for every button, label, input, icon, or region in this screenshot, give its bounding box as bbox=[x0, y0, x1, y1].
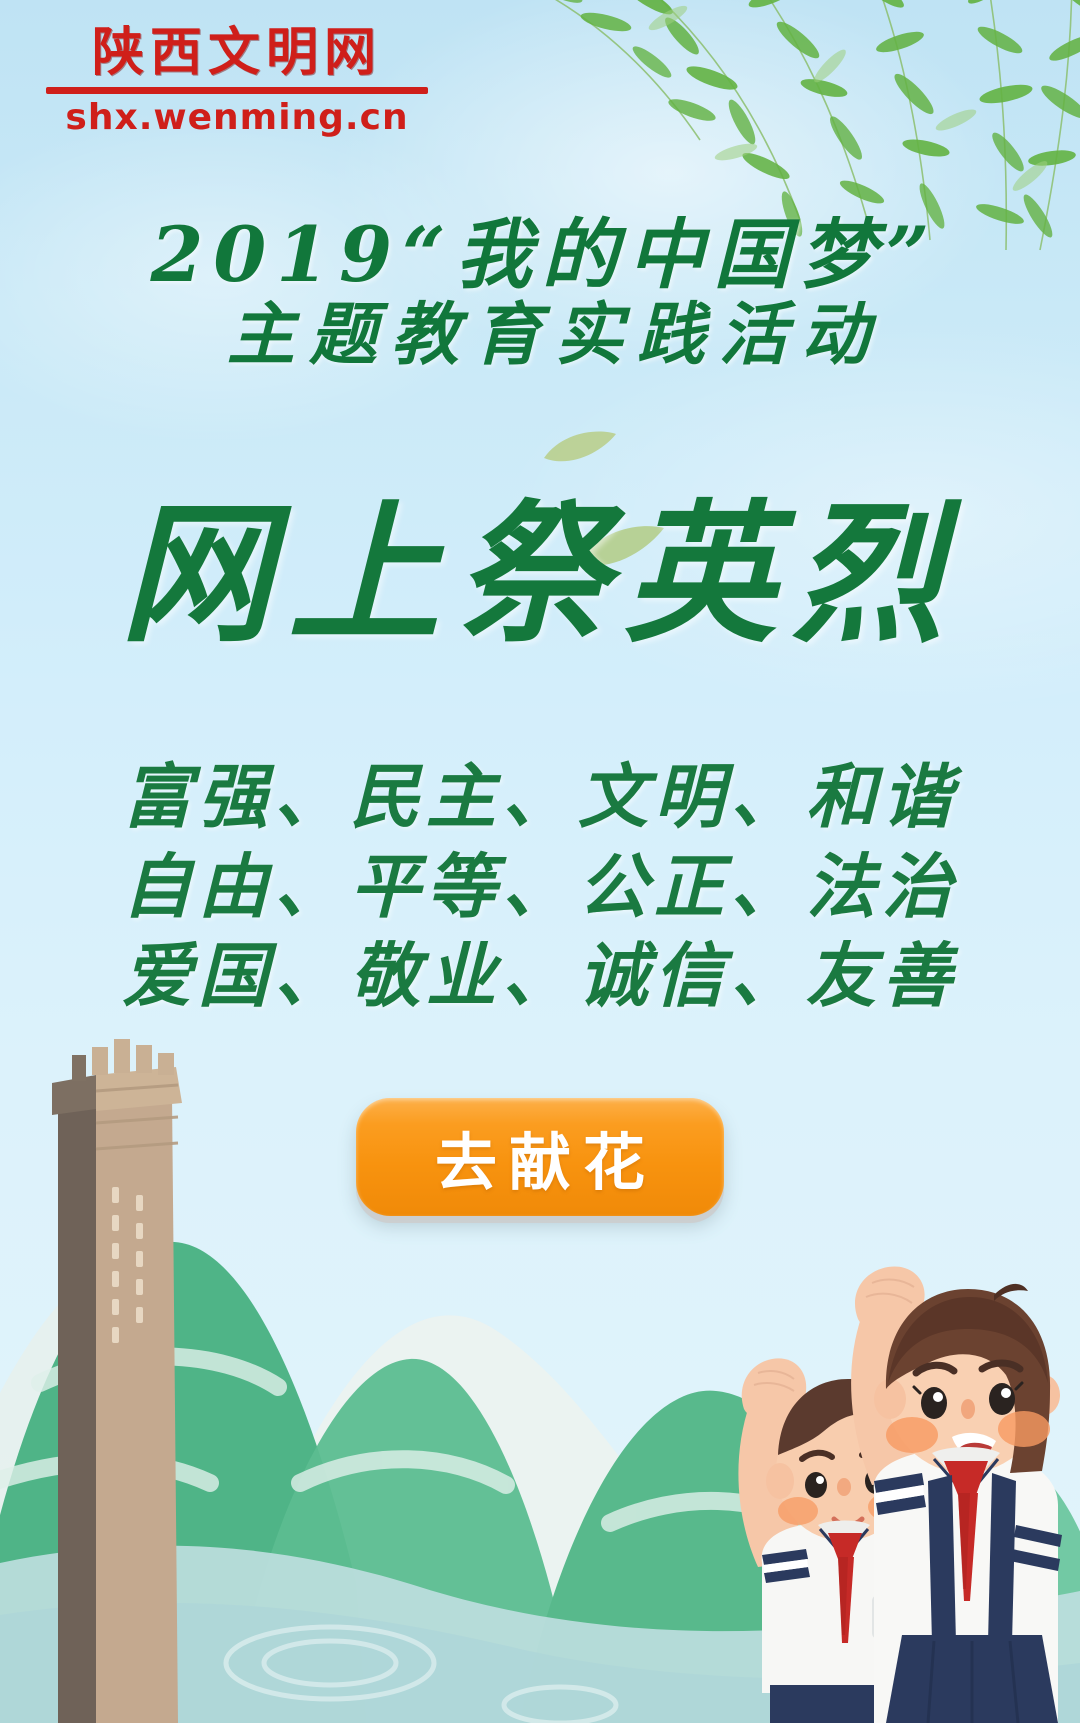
offer-flowers-button-label: 去献花 bbox=[423, 1112, 657, 1202]
saluting-students-illustration bbox=[666, 1223, 1080, 1723]
site-logo-url: shx.wenming.cn bbox=[42, 98, 432, 138]
values-line-1: 富强、民主、文明、和谐 bbox=[0, 752, 1080, 842]
landscape-illustration bbox=[0, 963, 1080, 1723]
subtitle-line-2: 主题教育实践活动 bbox=[0, 296, 1080, 374]
student-girl bbox=[851, 1266, 1062, 1723]
values-line-2: 自由、平等、公正、法治 bbox=[0, 842, 1080, 932]
page-title: 网上祭英烈 bbox=[0, 490, 1080, 657]
floating-leaf-icon bbox=[540, 428, 620, 470]
campaign-subtitle: 2019“我的中国梦” 主题教育实践活动 bbox=[0, 214, 1080, 374]
offer-flowers-button[interactable]: 去献花 bbox=[356, 1098, 724, 1216]
site-logo-name: 陕西文明网 bbox=[42, 26, 432, 81]
student-boy bbox=[738, 1358, 912, 1723]
values-line-3: 爱国、敬业、诚信、友善 bbox=[0, 931, 1080, 1021]
logo-divider bbox=[46, 87, 428, 94]
core-socialist-values: 富强、民主、文明、和谐 自由、平等、公正、法治 爱国、敬业、诚信、友善 bbox=[0, 752, 1080, 1021]
subtitle-line-1: 2019“我的中国梦” bbox=[0, 214, 1080, 296]
poster-background: 陕西文明网 shx.wenming.cn 2019“我的中国梦” 主题教育实践活… bbox=[0, 0, 1080, 1723]
site-logo[interactable]: 陕西文明网 shx.wenming.cn bbox=[42, 26, 432, 137]
